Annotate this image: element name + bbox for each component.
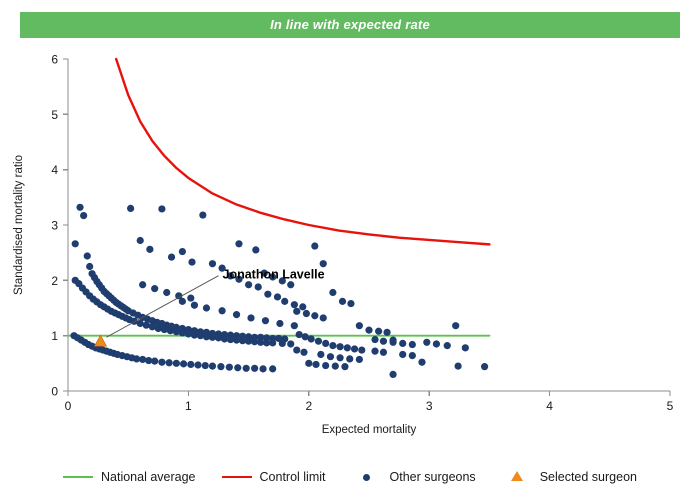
y-tick-label: 4 bbox=[51, 163, 58, 177]
x-tick-label: 5 bbox=[667, 399, 674, 413]
surgeon-point[interactable] bbox=[173, 328, 180, 335]
surgeon-point[interactable] bbox=[264, 291, 271, 298]
legend-label: National average bbox=[101, 470, 196, 484]
surgeon-point[interactable] bbox=[322, 362, 329, 369]
surgeon-point[interactable] bbox=[356, 356, 363, 363]
surgeon-point[interactable] bbox=[251, 365, 258, 372]
surgeon-point[interactable] bbox=[287, 340, 294, 347]
series-line-control-limit bbox=[116, 59, 489, 244]
surgeon-point[interactable] bbox=[339, 298, 346, 305]
surgeon-point[interactable] bbox=[389, 339, 396, 346]
surgeon-point[interactable] bbox=[455, 363, 462, 370]
surgeon-point[interactable] bbox=[418, 359, 425, 366]
surgeon-point[interactable] bbox=[311, 312, 318, 319]
surgeon-point[interactable] bbox=[409, 352, 416, 359]
line-swatch-icon bbox=[63, 476, 93, 478]
x-tick-label: 2 bbox=[305, 399, 312, 413]
surgeon-point[interactable] bbox=[269, 365, 276, 372]
surgeon-point[interactable] bbox=[185, 330, 192, 337]
surgeon-point[interactable] bbox=[151, 285, 158, 292]
surgeon-point[interactable] bbox=[245, 281, 252, 288]
surgeon-point[interactable] bbox=[322, 340, 329, 347]
surgeon-point[interactable] bbox=[191, 302, 198, 309]
y-tick-label: 0 bbox=[51, 385, 58, 399]
surgeon-point[interactable] bbox=[139, 356, 146, 363]
surgeon-point[interactable] bbox=[84, 252, 91, 259]
surgeon-point[interactable] bbox=[356, 322, 363, 329]
surgeon-point[interactable] bbox=[235, 240, 242, 247]
surgeon-point[interactable] bbox=[151, 358, 158, 365]
surgeon-point[interactable] bbox=[146, 246, 153, 253]
surgeon-point[interactable] bbox=[234, 364, 241, 371]
surgeon-point[interactable] bbox=[143, 322, 150, 329]
surgeon-point[interactable] bbox=[320, 314, 327, 321]
surgeon-point[interactable] bbox=[187, 294, 194, 301]
x-tick-label: 0 bbox=[65, 399, 72, 413]
y-tick-label: 6 bbox=[51, 53, 58, 67]
status-banner: In line with expected rate bbox=[20, 12, 680, 38]
surgeon-point[interactable] bbox=[346, 355, 353, 362]
surgeon-point[interactable] bbox=[293, 308, 300, 315]
surgeon-point[interactable] bbox=[317, 351, 324, 358]
legend-label: Other surgeons bbox=[390, 470, 476, 484]
surgeon-point[interactable] bbox=[300, 349, 307, 356]
surgeon-point[interactable] bbox=[168, 253, 175, 260]
surgeon-point[interactable] bbox=[194, 361, 201, 368]
surgeon-point[interactable] bbox=[233, 311, 240, 318]
surgeon-point[interactable] bbox=[127, 205, 134, 212]
x-tick-label: 1 bbox=[185, 399, 192, 413]
legend-item-national-average[interactable]: National average bbox=[63, 470, 196, 484]
surgeon-point[interactable] bbox=[188, 258, 195, 265]
surgeon-point[interactable] bbox=[180, 360, 187, 367]
surgeon-point[interactable] bbox=[166, 359, 173, 366]
surgeon-point[interactable] bbox=[399, 340, 406, 347]
surgeon-point[interactable] bbox=[255, 283, 262, 290]
surgeon-point[interactable] bbox=[433, 340, 440, 347]
surgeon-point[interactable] bbox=[291, 301, 298, 308]
y-tick-label: 5 bbox=[51, 108, 58, 122]
surgeon-point[interactable] bbox=[243, 365, 250, 372]
surgeon-point[interactable] bbox=[380, 338, 387, 345]
y-tick-label: 2 bbox=[51, 274, 58, 288]
surgeon-point[interactable] bbox=[399, 351, 406, 358]
surgeon-point[interactable] bbox=[303, 310, 310, 317]
surgeon-point[interactable] bbox=[161, 326, 168, 333]
surgeon-point[interactable] bbox=[274, 293, 281, 300]
surgeon-point[interactable] bbox=[380, 349, 387, 356]
surgeon-point[interactable] bbox=[217, 363, 224, 370]
surgeon-point[interactable] bbox=[158, 359, 165, 366]
y-axis-title: Standardised mortality ratio bbox=[13, 155, 25, 295]
surgeon-point[interactable] bbox=[179, 329, 186, 336]
surgeon-point[interactable] bbox=[158, 205, 165, 212]
surgeon-point[interactable] bbox=[215, 334, 222, 341]
surgeon-point[interactable] bbox=[167, 327, 174, 334]
y-tick-label: 3 bbox=[51, 219, 58, 233]
legend-item-selected-surgeon[interactable]: Selected surgeon bbox=[502, 469, 637, 485]
surgeon-point[interactable] bbox=[409, 341, 416, 348]
surgeon-point[interactable] bbox=[276, 320, 283, 327]
selected-surgeon-marker[interactable] bbox=[95, 335, 107, 346]
surgeon-point[interactable] bbox=[137, 320, 144, 327]
surgeon-point[interactable] bbox=[315, 338, 322, 345]
surgeon-point[interactable] bbox=[86, 263, 93, 270]
surgeon-point[interactable] bbox=[203, 304, 210, 311]
surgeon-point[interactable] bbox=[197, 332, 204, 339]
surgeon-point[interactable] bbox=[262, 317, 269, 324]
surgeon-point[interactable] bbox=[327, 353, 334, 360]
surgeon-point[interactable] bbox=[202, 362, 209, 369]
surgeon-point[interactable] bbox=[269, 339, 276, 346]
surgeon-point[interactable] bbox=[423, 339, 430, 346]
legend-label: Control limit bbox=[260, 470, 326, 484]
surgeon-point[interactable] bbox=[383, 329, 390, 336]
surgeon-point[interactable] bbox=[329, 342, 336, 349]
surgeon-point[interactable] bbox=[287, 281, 294, 288]
surgeon-point[interactable] bbox=[291, 322, 298, 329]
chart-area: 0123456012345 Jonathon Lavelle Expected … bbox=[0, 40, 700, 500]
surgeon-point[interactable] bbox=[173, 360, 180, 367]
surgeon-point[interactable] bbox=[341, 363, 348, 370]
surgeon-point[interactable] bbox=[311, 242, 318, 249]
surgeon-point[interactable] bbox=[299, 303, 306, 310]
surgeon-point[interactable] bbox=[444, 342, 451, 349]
surgeon-point[interactable] bbox=[389, 371, 396, 378]
surgeon-point[interactable] bbox=[252, 246, 259, 253]
surgeon-point[interactable] bbox=[259, 365, 266, 372]
surgeon-point[interactable] bbox=[139, 281, 146, 288]
x-tick-label: 3 bbox=[426, 399, 433, 413]
surgeon-point[interactable] bbox=[452, 322, 459, 329]
surgeon-point[interactable] bbox=[312, 361, 319, 368]
surgeon-point[interactable] bbox=[209, 363, 216, 370]
legend-item-other-surgeons[interactable]: Other surgeons bbox=[352, 469, 476, 485]
surgeon-point[interactable] bbox=[305, 360, 312, 367]
triangle-swatch-icon bbox=[502, 469, 532, 485]
axis-titles: Expected mortalityStandardised mortality… bbox=[13, 155, 417, 436]
surgeon-point[interactable] bbox=[365, 327, 372, 334]
surgeon-point[interactable] bbox=[209, 260, 216, 267]
surgeon-point[interactable] bbox=[344, 344, 351, 351]
surgeon-point[interactable] bbox=[76, 204, 83, 211]
annotation-label: Jonathon Lavelle bbox=[223, 268, 325, 282]
surgeon-point[interactable] bbox=[179, 248, 186, 255]
surgeon-point[interactable] bbox=[219, 307, 226, 314]
funnel-plot-page: In line with expected rate 0123456012345… bbox=[0, 0, 700, 500]
surgeon-point[interactable] bbox=[358, 346, 365, 353]
surgeon-point[interactable] bbox=[137, 237, 144, 244]
funnel-plot-svg: 0123456012345 Jonathon Lavelle Expected … bbox=[0, 40, 700, 460]
surgeon-point[interactable] bbox=[293, 346, 300, 353]
surgeon-point[interactable] bbox=[80, 212, 87, 219]
data-series bbox=[68, 59, 489, 378]
surgeon-point[interactable] bbox=[347, 300, 354, 307]
surgeon-point[interactable] bbox=[281, 298, 288, 305]
dot-swatch-icon bbox=[352, 469, 382, 485]
surgeon-point[interactable] bbox=[308, 335, 315, 342]
surgeon-point[interactable] bbox=[155, 325, 162, 332]
surgeon-point[interactable] bbox=[371, 348, 378, 355]
surgeon-point[interactable] bbox=[375, 328, 382, 335]
surgeon-point[interactable] bbox=[481, 363, 488, 370]
chart-legend: National averageControl limitOther surge… bbox=[0, 462, 700, 492]
surgeon-point[interactable] bbox=[187, 361, 194, 368]
surgeon-point[interactable] bbox=[337, 354, 344, 361]
surgeon-point[interactable] bbox=[279, 340, 286, 347]
surgeon-point[interactable] bbox=[371, 336, 378, 343]
surgeon-point[interactable] bbox=[320, 260, 327, 267]
surgeon-point[interactable] bbox=[149, 323, 156, 330]
series-points-selected-surgeon bbox=[95, 335, 107, 346]
surgeon-point[interactable] bbox=[163, 289, 170, 296]
legend-label: Selected surgeon bbox=[540, 470, 637, 484]
surgeon-point[interactable] bbox=[332, 363, 339, 370]
surgeon-point[interactable] bbox=[199, 211, 206, 218]
x-tick-label: 4 bbox=[546, 399, 553, 413]
surgeon-point[interactable] bbox=[329, 289, 336, 296]
surgeon-point[interactable] bbox=[462, 344, 469, 351]
x-axis-title: Expected mortality bbox=[322, 424, 417, 436]
series-points-other-surgeons bbox=[70, 204, 488, 378]
surgeon-point[interactable] bbox=[351, 345, 358, 352]
line-swatch-icon bbox=[222, 476, 252, 478]
legend-item-control-limit[interactable]: Control limit bbox=[222, 470, 326, 484]
surgeon-point[interactable] bbox=[72, 240, 79, 247]
y-tick-label: 1 bbox=[51, 329, 58, 343]
surgeon-point[interactable] bbox=[337, 343, 344, 350]
surgeon-point[interactable] bbox=[226, 364, 233, 371]
surgeon-point[interactable] bbox=[247, 314, 254, 321]
